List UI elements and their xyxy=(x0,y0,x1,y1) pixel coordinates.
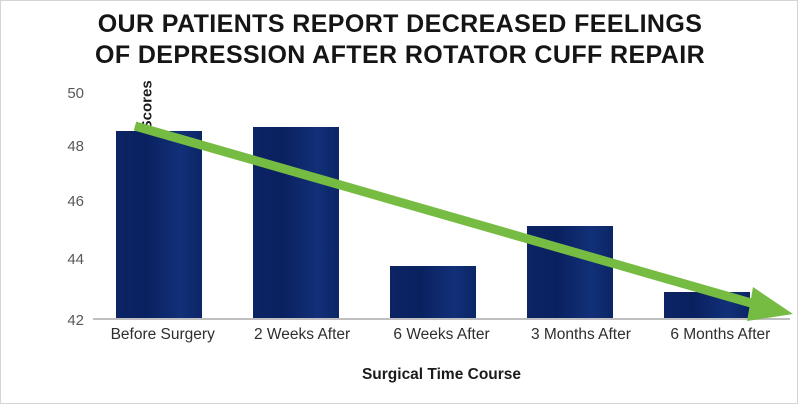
x-axis-tick-label: 6 Weeks After xyxy=(372,327,511,343)
x-axis-tick-label: 2 Weeks After xyxy=(232,327,371,343)
x-axis-tick-label: Before Surgery xyxy=(93,327,232,343)
x-axis-tick-label: 3 Months After xyxy=(511,327,650,343)
x-axis-tick-label: 6 Months After xyxy=(651,327,790,343)
plot-area: Our Patient PROMIS Scores 50 48 46 44 42 xyxy=(93,87,790,320)
chart-container: OUR PATIENTS REPORT DECREASED FEELINGS O… xyxy=(0,0,798,404)
bar-6-months-after xyxy=(664,292,750,318)
y-axis-tick-label: 48 xyxy=(38,139,84,154)
bar-before-surgery xyxy=(116,131,202,318)
bar-6-weeks-after xyxy=(390,266,476,318)
bar-3-months-after xyxy=(527,226,613,318)
y-axis-tick-label: 46 xyxy=(38,194,84,209)
y-axis-tick-label: 44 xyxy=(38,252,84,267)
y-axis-tick-label: 42 xyxy=(38,313,84,328)
bar-2-weeks-after xyxy=(253,127,339,318)
x-axis-title: Surgical Time Course xyxy=(93,366,790,384)
x-axis-tick-labels: Before Surgery 2 Weeks After 6 Weeks Aft… xyxy=(93,327,790,343)
x-axis-line xyxy=(93,318,790,320)
y-axis-tick-label: 50 xyxy=(38,86,84,101)
